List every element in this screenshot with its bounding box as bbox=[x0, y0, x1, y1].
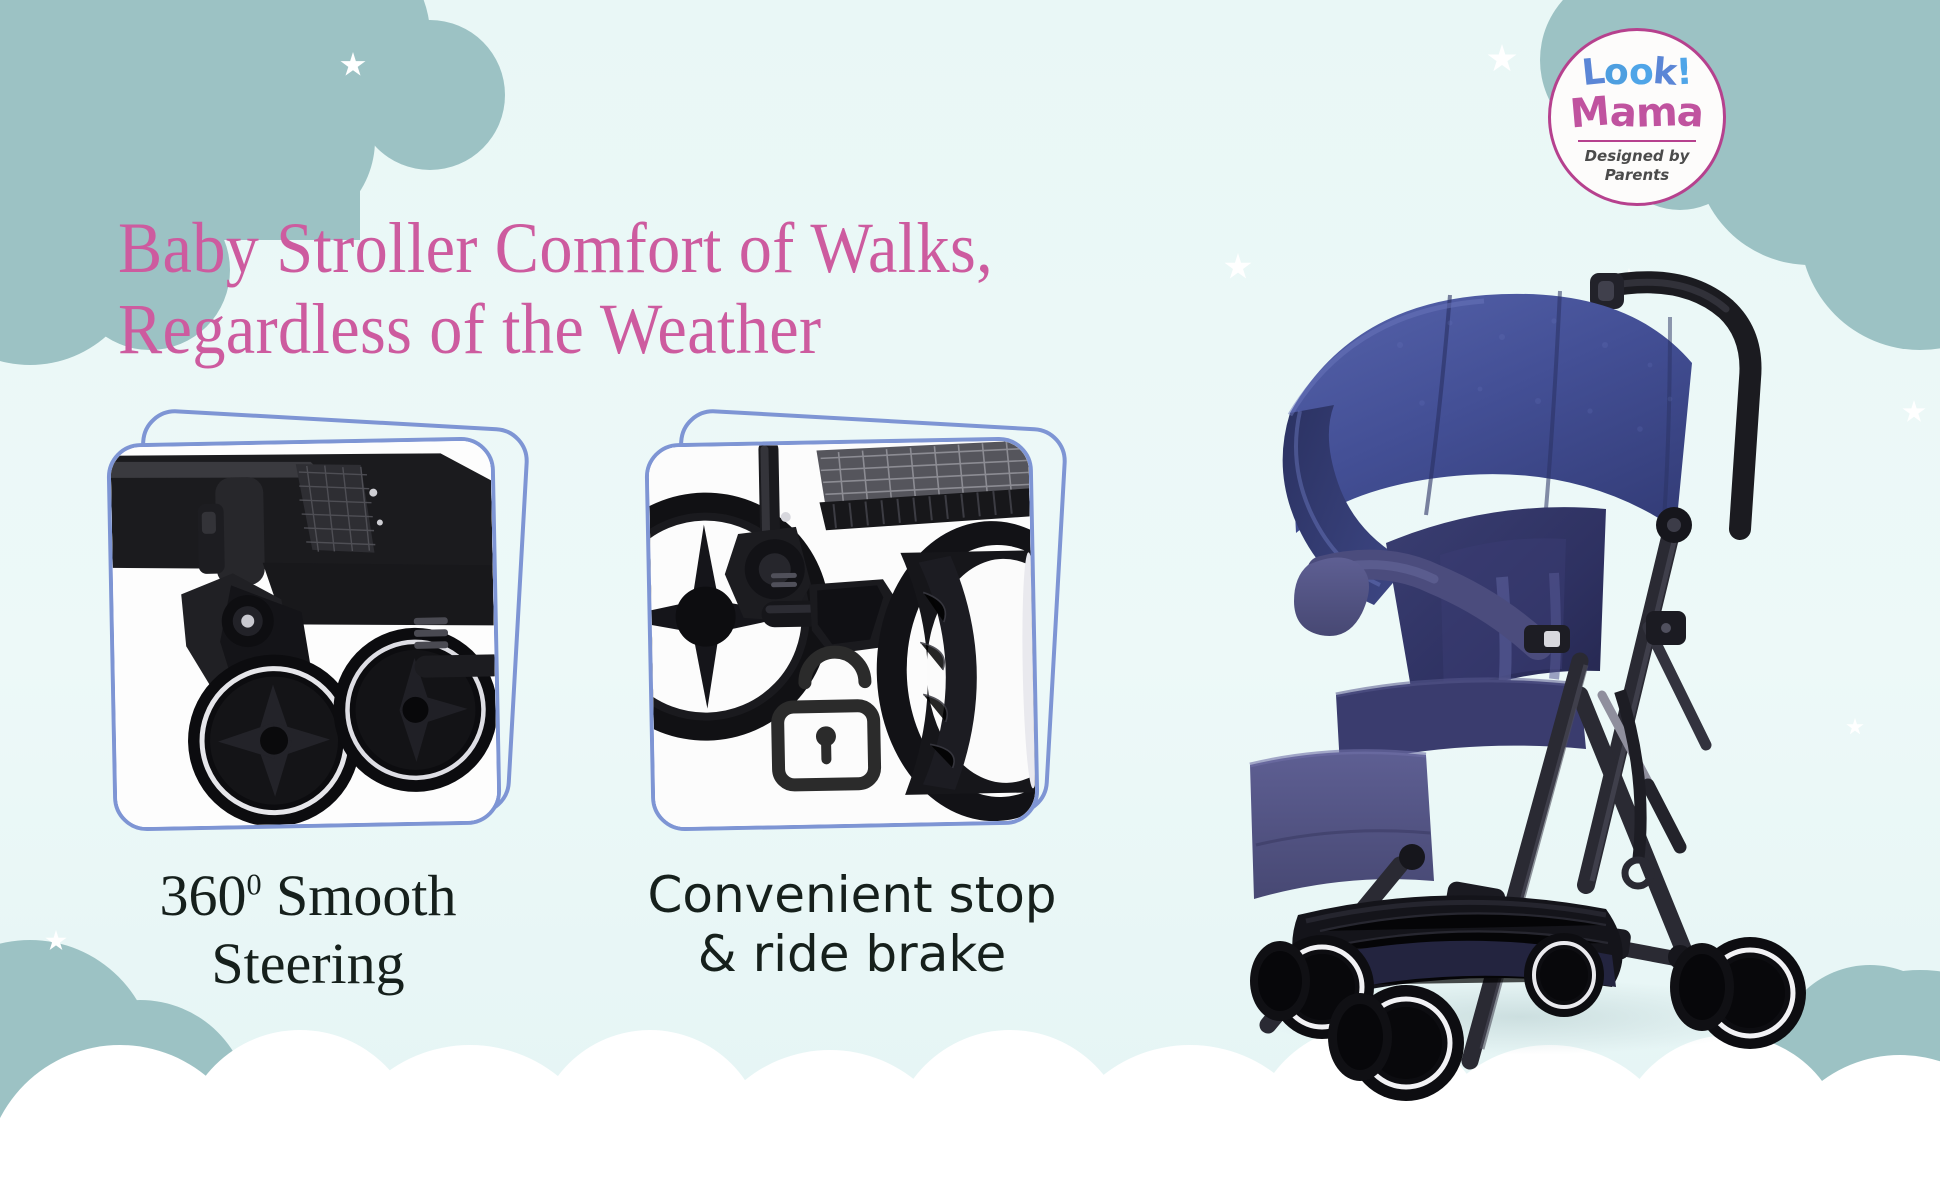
feature-360-steering[interactable] bbox=[110, 432, 510, 832]
star-icon bbox=[1902, 400, 1926, 424]
feature-ride-brake[interactable] bbox=[648, 432, 1048, 832]
page-title: Baby Stroller Comfort of Walks, Regardle… bbox=[118, 208, 1204, 369]
wheel bbox=[1524, 933, 1604, 1017]
star-icon bbox=[630, 1060, 648, 1078]
headline-line-2: Regardless of the Weather bbox=[118, 289, 1204, 370]
caption-line-1: 3600 Smooth bbox=[78, 862, 538, 930]
look-mama-logo[interactable]: Look! Mama Designed by Parents bbox=[1548, 28, 1726, 206]
caption-line-1: Convenient stop bbox=[622, 866, 1082, 925]
degree-symbol: 0 bbox=[246, 868, 261, 902]
photo-frame bbox=[648, 432, 1048, 832]
feature-photo-ride-brake bbox=[648, 440, 1035, 827]
wheel bbox=[1328, 985, 1464, 1101]
feature-ride-brake-caption: Convenient stop & ride brake bbox=[622, 866, 1082, 984]
frame-front bbox=[644, 436, 1039, 831]
logo-divider bbox=[1578, 140, 1696, 142]
star-icon bbox=[1487, 44, 1517, 74]
caption-line-2: Steering bbox=[78, 930, 538, 998]
logo-tagline-line-2: Parents bbox=[1605, 166, 1670, 184]
frame-front bbox=[106, 436, 501, 831]
logo-tagline-line-1: Designed by bbox=[1585, 147, 1690, 165]
stroller-hero-photo bbox=[1150, 225, 1870, 1105]
feature-360-steering-caption: 3600 Smooth Steering bbox=[78, 862, 538, 999]
logo-brand-mama: Mama bbox=[1570, 93, 1704, 133]
logo-tagline: Designed by Parents bbox=[1585, 147, 1690, 185]
star-icon bbox=[340, 52, 366, 78]
caption-number: 360 bbox=[159, 863, 246, 928]
logo-brand-look: Look! bbox=[1582, 55, 1692, 91]
caption-line-2: & ride brake bbox=[622, 925, 1082, 984]
photo-frame bbox=[110, 432, 510, 832]
headline-line-1: Baby Stroller Comfort of Walks, bbox=[118, 208, 1204, 289]
caption-rest: Smooth bbox=[262, 863, 457, 928]
star-icon bbox=[45, 930, 67, 952]
feature-photo-caster-wheel bbox=[110, 440, 497, 827]
promo-banner: Look! Mama Designed by Parents Baby Stro… bbox=[0, 0, 1940, 1200]
